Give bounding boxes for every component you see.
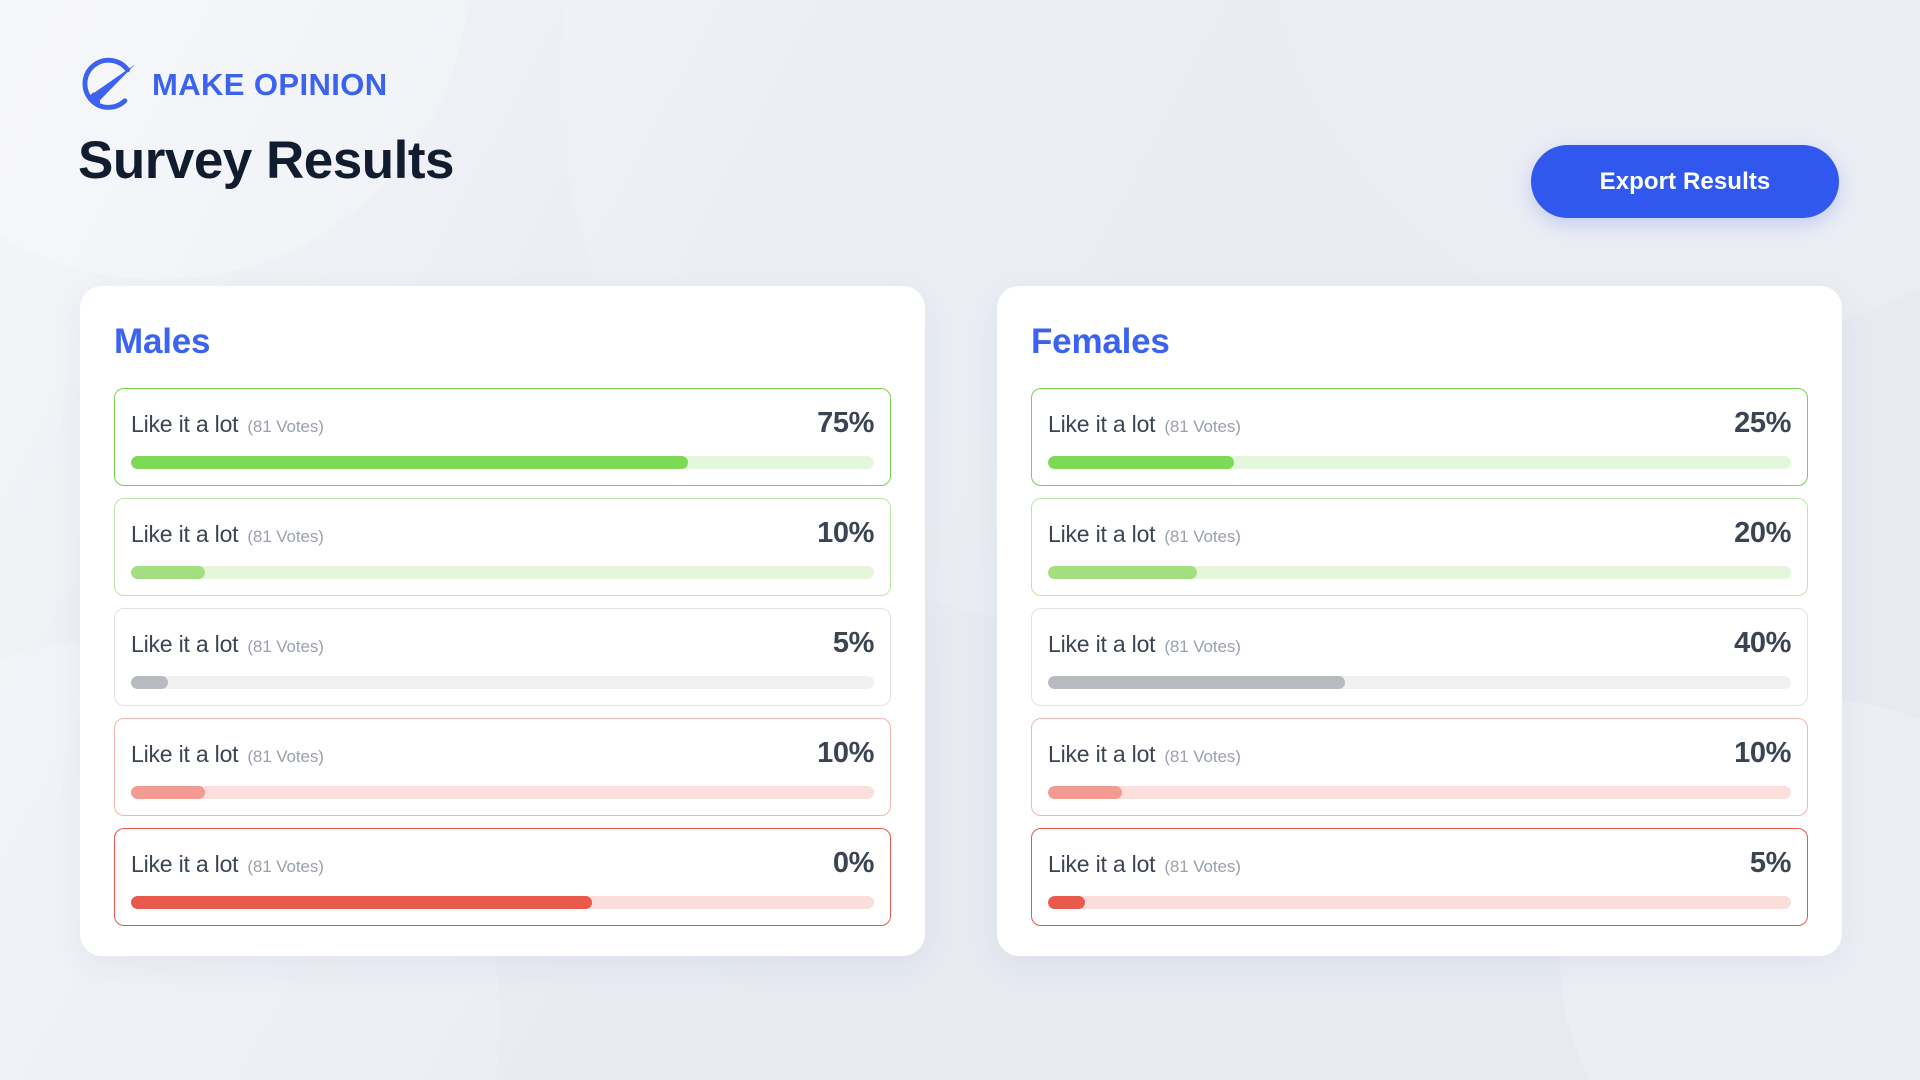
answer-vote-count: (81 Votes) xyxy=(247,637,324,657)
answer-row-header: Like it a lot (81 Votes) 75% xyxy=(131,407,874,440)
answer-label: Like it a lot xyxy=(1048,521,1155,548)
answer-row[interactable]: Like it a lot (81 Votes) 10% xyxy=(114,498,891,596)
answer-row[interactable]: Like it a lot (81 Votes) 0% xyxy=(114,828,891,926)
answer-row-header: Like it a lot (81 Votes) 0% xyxy=(131,847,874,880)
answer-vote-count: (81 Votes) xyxy=(1164,747,1241,767)
answer-vote-count: (81 Votes) xyxy=(247,857,324,877)
answer-label: Like it a lot xyxy=(1048,741,1155,768)
answer-percent: 40% xyxy=(1734,627,1791,660)
answer-percent: 5% xyxy=(833,627,874,660)
answer-row-header: Like it a lot (81 Votes) 5% xyxy=(131,627,874,660)
answer-vote-count: (81 Votes) xyxy=(247,527,324,547)
export-results-button[interactable]: Export Results xyxy=(1531,145,1839,218)
answer-progress-fill xyxy=(131,676,168,689)
answer-rows-females: Like it a lot (81 Votes) 25% Like it a l… xyxy=(1031,388,1808,926)
answer-percent: 10% xyxy=(817,517,874,550)
answer-row-header: Like it a lot (81 Votes) 25% xyxy=(1048,407,1791,440)
answer-row-header: Like it a lot (81 Votes) 40% xyxy=(1048,627,1791,660)
answer-progress-track xyxy=(131,456,874,469)
answer-progress-track xyxy=(1048,896,1791,909)
answer-row[interactable]: Like it a lot (81 Votes) 5% xyxy=(114,608,891,706)
answer-percent: 25% xyxy=(1734,407,1791,440)
answer-label: Like it a lot xyxy=(131,741,238,768)
answer-progress-fill xyxy=(1048,456,1234,469)
circle-swoosh-logo-icon xyxy=(80,55,138,113)
card-title-females: Females xyxy=(1031,322,1808,362)
survey-results-page: MAKE OPINION Survey Results Export Resul… xyxy=(0,0,1920,1080)
answer-rows-males: Like it a lot (81 Votes) 75% Like it a l… xyxy=(114,388,891,926)
answer-vote-count: (81 Votes) xyxy=(247,417,324,437)
answer-row[interactable]: Like it a lot (81 Votes) 25% xyxy=(1031,388,1808,486)
answer-percent: 5% xyxy=(1750,847,1791,880)
answer-percent: 0% xyxy=(833,847,874,880)
answer-row-header: Like it a lot (81 Votes) 10% xyxy=(131,517,874,550)
answer-row[interactable]: Like it a lot (81 Votes) 20% xyxy=(1031,498,1808,596)
answer-row[interactable]: Like it a lot (81 Votes) 5% xyxy=(1031,828,1808,926)
answer-progress-track xyxy=(131,566,874,579)
answer-percent: 10% xyxy=(1734,737,1791,770)
answer-progress-track xyxy=(131,786,874,799)
answer-label: Like it a lot xyxy=(1048,851,1155,878)
answer-progress-fill xyxy=(1048,786,1122,799)
results-cards-container: Males Like it a lot (81 Votes) 75% Like … xyxy=(80,286,1842,956)
answer-label: Like it a lot xyxy=(131,411,238,438)
answer-progress-fill xyxy=(1048,566,1197,579)
answer-label: Like it a lot xyxy=(1048,411,1155,438)
answer-progress-track xyxy=(131,896,874,909)
card-title-males: Males xyxy=(114,322,891,362)
answer-progress-track xyxy=(1048,786,1791,799)
answer-progress-fill xyxy=(131,786,205,799)
brand-lockup: MAKE OPINION xyxy=(80,55,388,113)
brand-name: MAKE OPINION xyxy=(152,69,388,100)
answer-vote-count: (81 Votes) xyxy=(1164,417,1241,437)
answer-row-header: Like it a lot (81 Votes) 20% xyxy=(1048,517,1791,550)
answer-label: Like it a lot xyxy=(131,851,238,878)
answer-progress-fill xyxy=(131,456,688,469)
results-card-females: Females Like it a lot (81 Votes) 25% Lik… xyxy=(997,286,1842,956)
answer-progress-fill xyxy=(1048,676,1345,689)
answer-label: Like it a lot xyxy=(1048,631,1155,658)
answer-progress-fill xyxy=(131,896,592,909)
answer-percent: 75% xyxy=(817,407,874,440)
answer-row-header: Like it a lot (81 Votes) 10% xyxy=(131,737,874,770)
answer-progress-fill xyxy=(1048,896,1085,909)
answer-row-header: Like it a lot (81 Votes) 5% xyxy=(1048,847,1791,880)
answer-percent: 20% xyxy=(1734,517,1791,550)
answer-label: Like it a lot xyxy=(131,631,238,658)
answer-row[interactable]: Like it a lot (81 Votes) 10% xyxy=(1031,718,1808,816)
answer-progress-track xyxy=(1048,566,1791,579)
answer-vote-count: (81 Votes) xyxy=(1164,637,1241,657)
answer-vote-count: (81 Votes) xyxy=(1164,857,1241,877)
answer-percent: 10% xyxy=(817,737,874,770)
answer-row-header: Like it a lot (81 Votes) 10% xyxy=(1048,737,1791,770)
answer-row[interactable]: Like it a lot (81 Votes) 10% xyxy=(114,718,891,816)
answer-progress-track xyxy=(131,676,874,689)
results-card-males: Males Like it a lot (81 Votes) 75% Like … xyxy=(80,286,925,956)
answer-progress-fill xyxy=(131,566,205,579)
answer-label: Like it a lot xyxy=(131,521,238,548)
page-title: Survey Results xyxy=(78,132,454,190)
answer-progress-track xyxy=(1048,676,1791,689)
answer-vote-count: (81 Votes) xyxy=(1164,527,1241,547)
answer-vote-count: (81 Votes) xyxy=(247,747,324,767)
answer-row[interactable]: Like it a lot (81 Votes) 75% xyxy=(114,388,891,486)
answer-progress-track xyxy=(1048,456,1791,469)
answer-row[interactable]: Like it a lot (81 Votes) 40% xyxy=(1031,608,1808,706)
